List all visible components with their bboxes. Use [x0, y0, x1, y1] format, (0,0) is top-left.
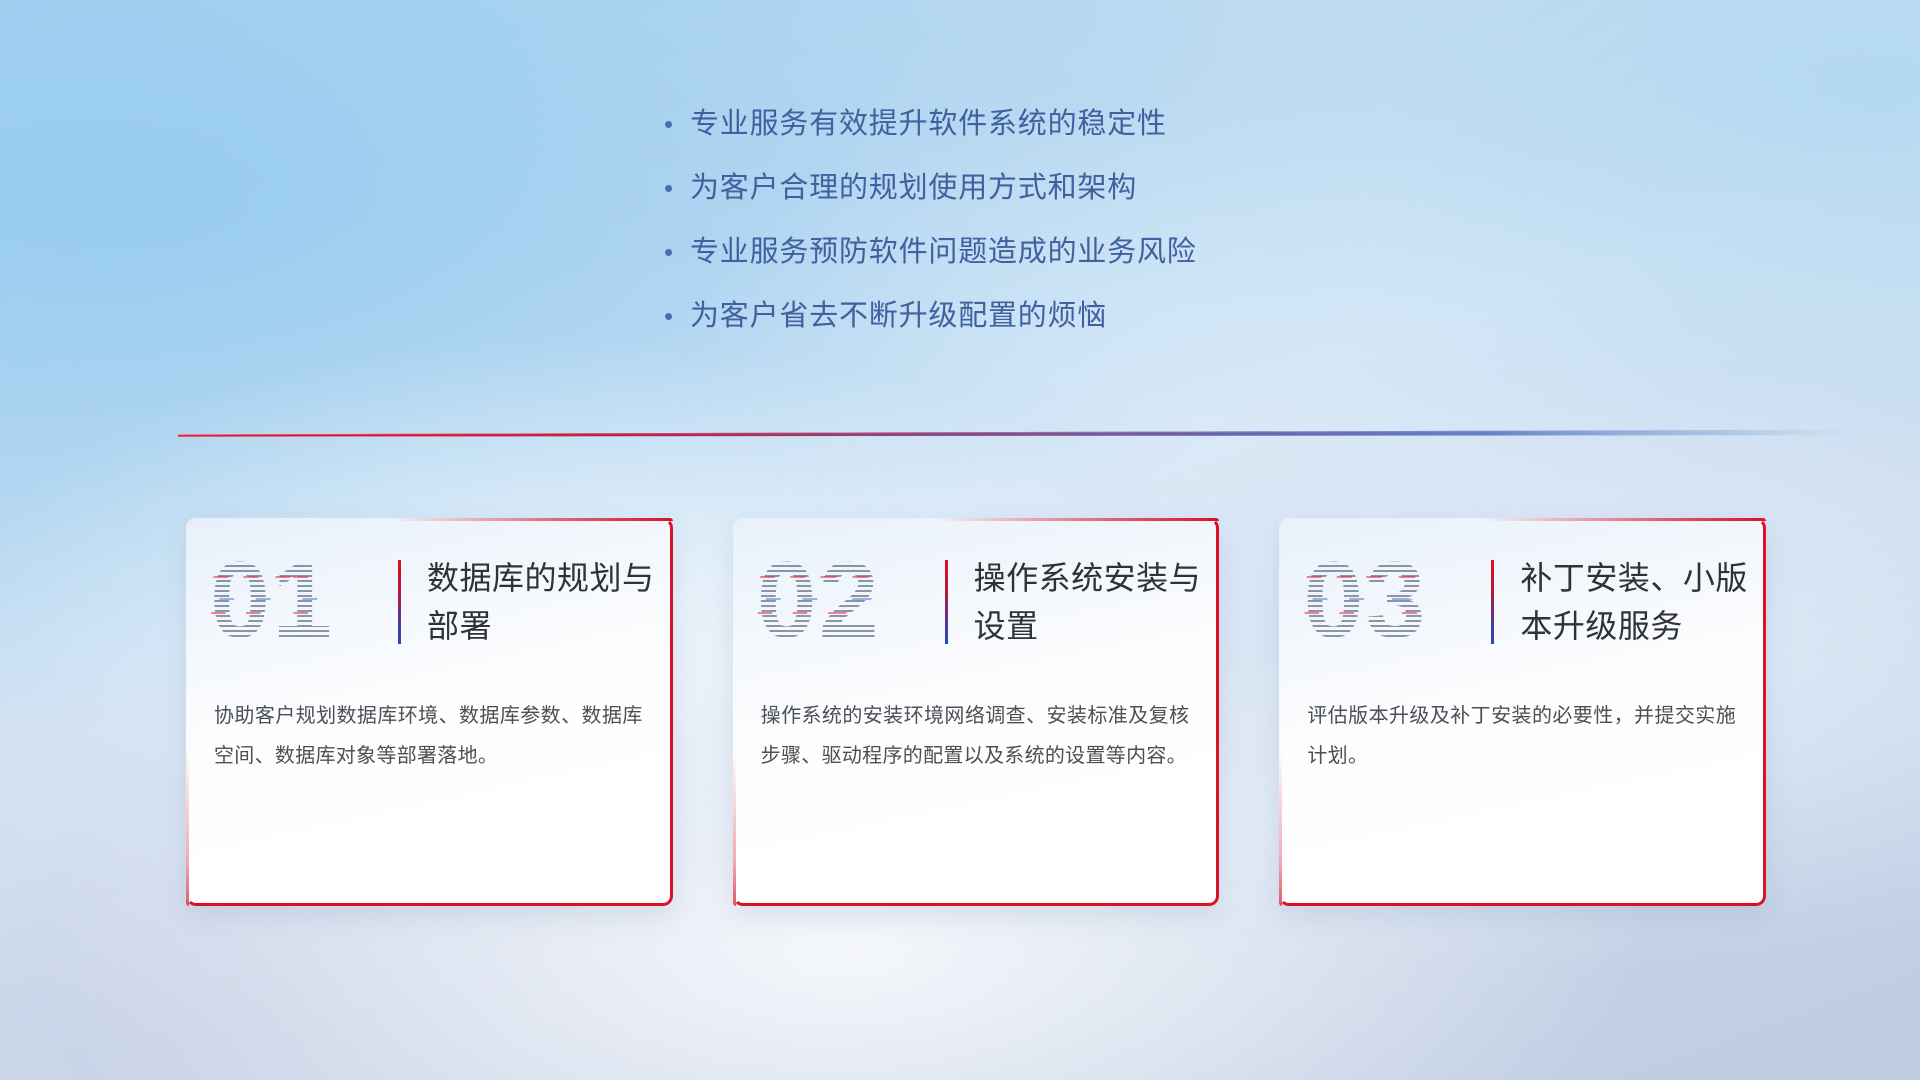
bullet-text: 为客户合理的规划使用方式和架构	[690, 168, 1137, 208]
card-title: 数据库的规划与部署	[427, 554, 673, 650]
bullet-dot-icon: •	[660, 168, 690, 208]
bullet-text: 专业服务预防软件问题造成的业务风险	[690, 232, 1197, 272]
service-card[interactable]: 02 02 02 操作系统安装与设置 操作系统的安装环境网络调查、安装标准及复核…	[733, 518, 1220, 906]
card-number-base: 03	[1303, 539, 1427, 660]
divider-svg	[178, 424, 1858, 442]
card-body-text: 评估版本升级及补丁安装的必要性，并提交实施计划。	[1307, 696, 1736, 776]
service-card[interactable]: 01 01 01 数据库的规划与部署 协助客户规划数据库环境、数据库参数、数据库…	[186, 518, 673, 906]
card-body-text: 操作系统的安装环境网络调查、安装标准及复核步骤、驱动程序的配置以及系统的设置等内…	[761, 696, 1190, 776]
benefits-bullet-list: • 专业服务有效提升软件系统的稳定性 • 为客户合理的规划使用方式和架构 • 专…	[660, 104, 1420, 360]
card-number-base: 02	[757, 539, 881, 660]
card-header: 补丁安装、小版本升级服务	[1491, 554, 1766, 650]
bullet-dot-icon: •	[660, 104, 690, 144]
list-item: • 为客户省去不断升级配置的烦恼	[660, 296, 1420, 360]
card-number-base: 01	[210, 539, 334, 660]
bullet-dot-icon: •	[660, 296, 690, 336]
card-title: 补丁安装、小版本升级服务	[1520, 554, 1766, 650]
tapered-divider-line	[178, 424, 1858, 442]
card-number-watermark: 02 02 02	[757, 540, 937, 660]
card-title-rule	[1491, 560, 1494, 644]
card-header: 操作系统安装与设置	[945, 554, 1220, 650]
card-number-watermark: 01 01 01	[210, 540, 390, 660]
card-body-text: 协助客户规划数据库环境、数据库参数、数据库空间、数据库对象等部署落地。	[214, 696, 643, 776]
service-card[interactable]: 03 03 03 补丁安装、小版本升级服务 评估版本升级及补丁安装的必要性，并提…	[1279, 518, 1766, 906]
card-header: 数据库的规划与部署	[398, 554, 673, 650]
card-title-rule	[945, 560, 948, 644]
bullet-text: 为客户省去不断升级配置的烦恼	[690, 296, 1107, 336]
bullet-dot-icon: •	[660, 232, 690, 272]
list-item: • 为客户合理的规划使用方式和架构	[660, 168, 1420, 232]
card-title: 操作系统安装与设置	[974, 554, 1220, 650]
service-card-row: 01 01 01 数据库的规划与部署 协助客户规划数据库环境、数据库参数、数据库…	[186, 518, 1766, 906]
bullet-text: 专业服务有效提升软件系统的稳定性	[690, 104, 1167, 144]
list-item: • 专业服务预防软件问题造成的业务风险	[660, 232, 1420, 296]
card-number-watermark: 03 03 03	[1303, 540, 1483, 660]
list-item: • 专业服务有效提升软件系统的稳定性	[660, 104, 1420, 168]
card-title-rule	[398, 560, 401, 644]
